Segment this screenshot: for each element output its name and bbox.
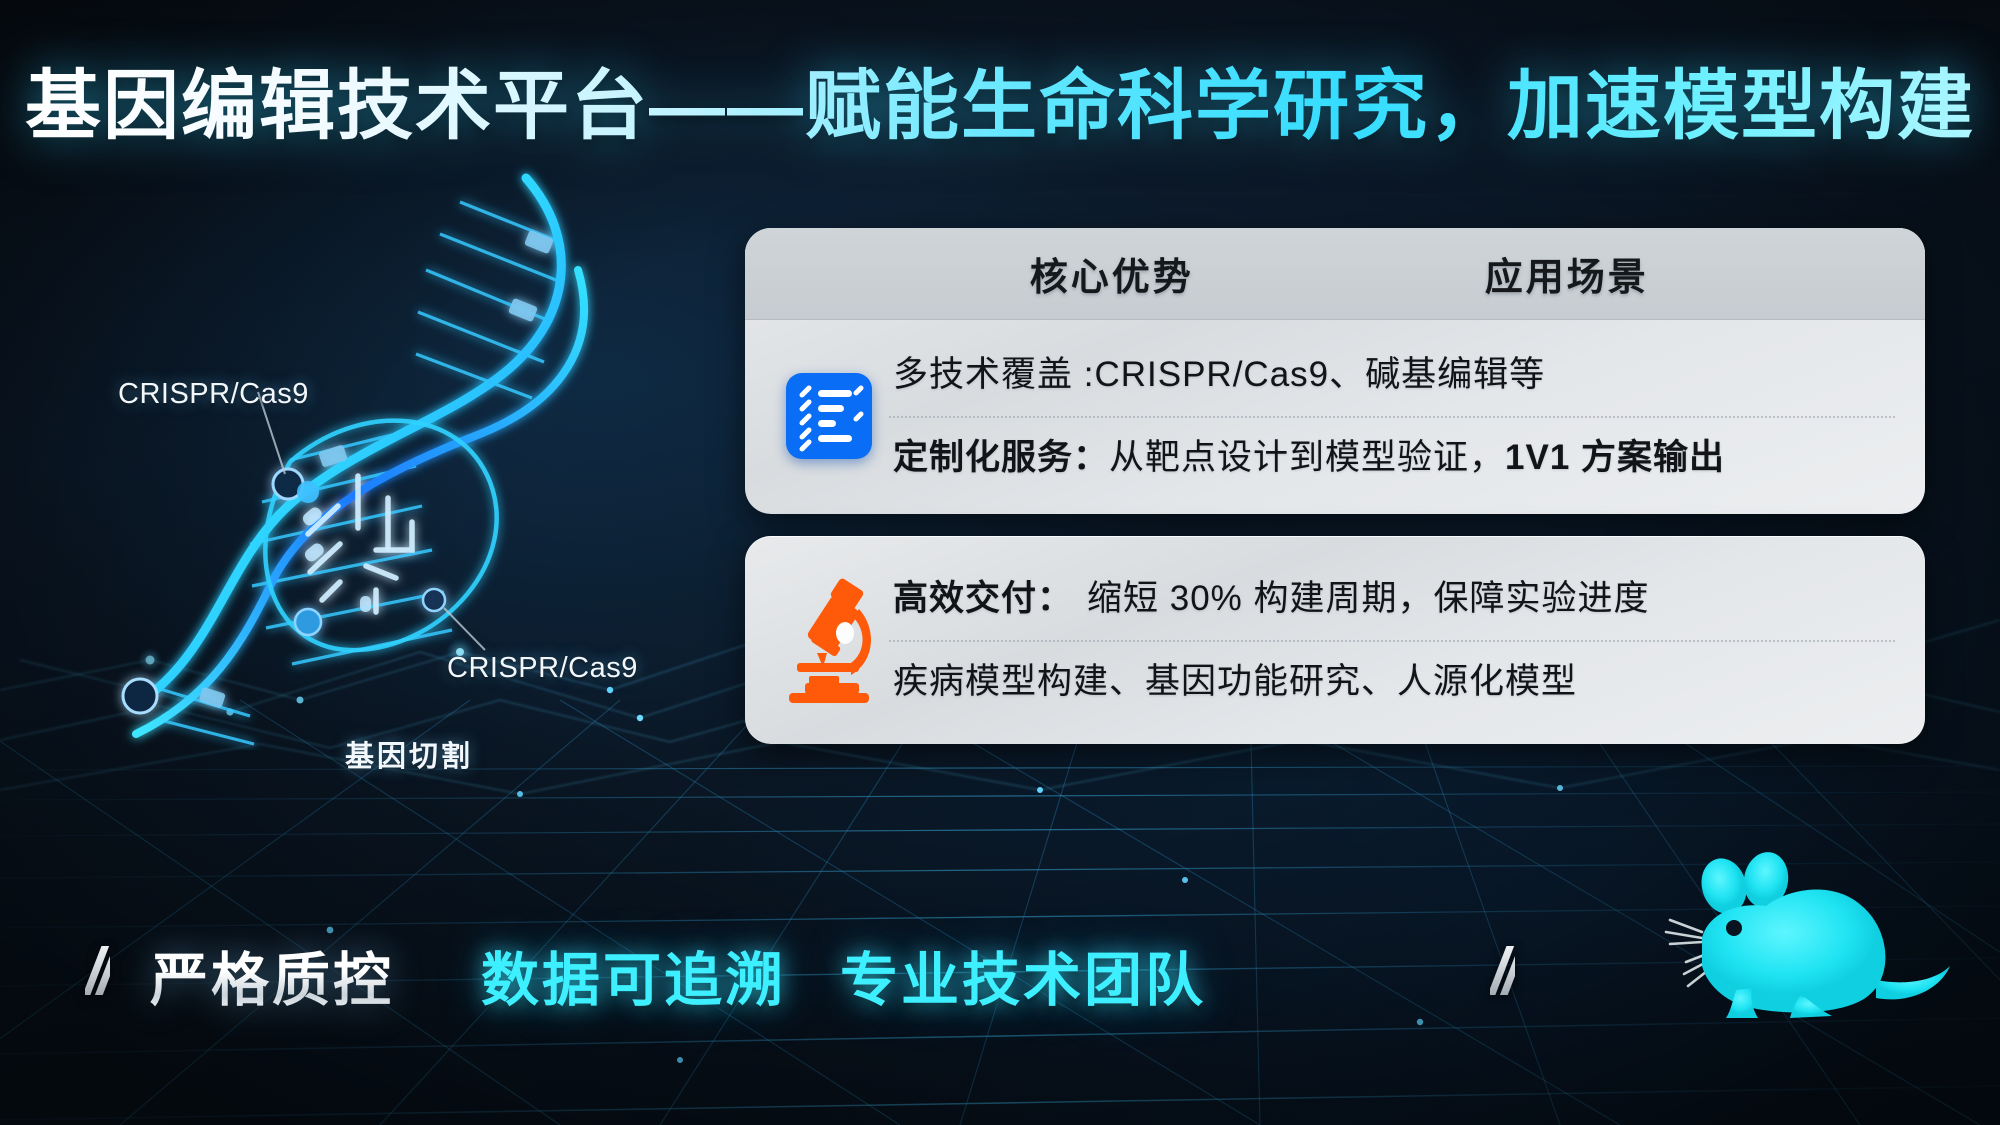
microscope-icon <box>779 577 879 703</box>
keyword-quality-control: 严格质控 <box>150 933 394 1017</box>
icon-column <box>769 558 889 722</box>
slide-root: 基因编辑技术平台——赋能生命科学研究，加速模型构建 <box>0 0 2000 1125</box>
card-header-row: 核心优势 应用场景 <box>745 228 1925 320</box>
dna-label-cut: 基因切割 <box>345 733 473 775</box>
card-body: 高效交付： 缩短 30% 构建周期，保障实验进度 疾病模型构建、基因功能研究、人… <box>745 536 1925 744</box>
table-row: 多技术覆盖 :CRISPR/Cas9、碱基编辑等 <box>889 334 1895 416</box>
row-text-prefix: 定制化服务： <box>893 435 1109 481</box>
slash-left-icon: // <box>85 933 110 1009</box>
keyword-professional-team: 专业技术团队 <box>840 933 1206 1017</box>
column-header-application-scenario: 应用场景 <box>1359 246 1925 301</box>
card-application-scenario[interactable]: 高效交付： 缩短 30% 构建周期，保障实验进度 疾病模型构建、基因功能研究、人… <box>745 536 1925 744</box>
row-list: 多技术覆盖 :CRISPR/Cas9、碱基编辑等 定制化服务： 从靶点设计到模型… <box>889 334 1895 498</box>
row-text: 从靶点设计到模型验证， <box>1109 435 1505 481</box>
dna-label-lower: CRISPR/Cas9 <box>447 652 638 685</box>
card-body: 多技术覆盖 :CRISPR/Cas9、碱基编辑等 定制化服务： 从靶点设计到模型… <box>745 320 1925 514</box>
row-text-prefix: 高效交付： <box>893 576 1073 622</box>
checklist-icon <box>786 373 872 459</box>
keyword-data-traceability: 数据可追溯 <box>481 933 786 1017</box>
mouse-icon <box>1640 840 1970 1090</box>
column-header-core-advantage: 核心优势 <box>745 246 1359 301</box>
row-text: 疾病模型构建、基因功能研究、人源化模型 <box>893 659 1577 705</box>
card-core-advantage[interactable]: 核心优势 应用场景 <box>745 228 1925 514</box>
row-list: 高效交付： 缩短 30% 构建周期，保障实验进度 疾病模型构建、基因功能研究、人… <box>889 558 1895 722</box>
icon-column <box>769 334 889 498</box>
table-row: 高效交付： 缩短 30% 构建周期，保障实验进度 <box>889 558 1895 640</box>
row-text: 多技术覆盖 :CRISPR/Cas9、碱基编辑等 <box>893 352 1545 398</box>
row-text-suffix: 1V1 方案输出 <box>1505 435 1725 481</box>
table-row: 定制化服务： 从靶点设计到模型验证， 1V1 方案输出 <box>889 416 1895 498</box>
row-text: 缩短 30% 构建周期，保障实验进度 <box>1073 576 1650 622</box>
table-row: 疾病模型构建、基因功能研究、人源化模型 <box>889 640 1895 722</box>
dna-label-upper: CRISPR/Cas9 <box>118 378 309 411</box>
slash-right-icon: // <box>1490 933 1515 1009</box>
feature-cards: 核心优势 应用场景 <box>745 228 1925 744</box>
